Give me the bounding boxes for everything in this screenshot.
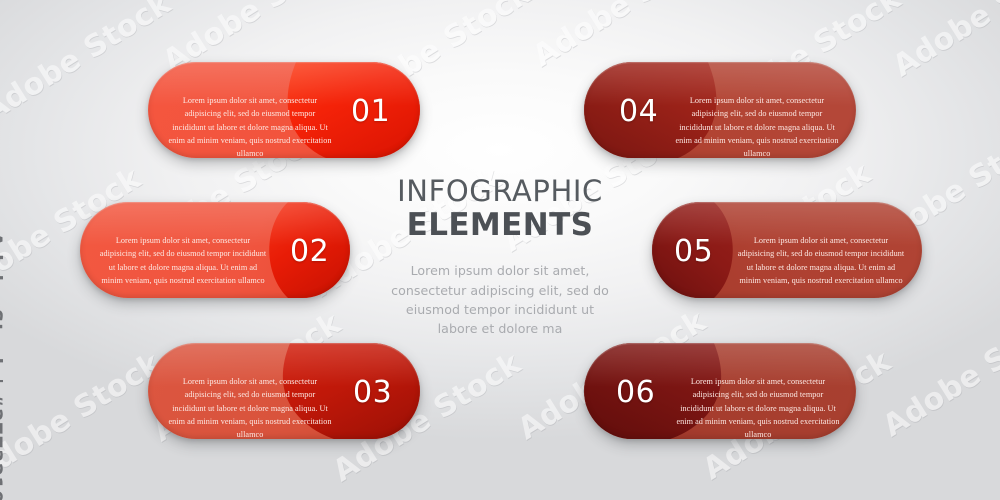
pill-06-body-text: Lorem ipsum dolor sit amet, consectetur … xyxy=(676,375,840,439)
watermark-word: Adobe Stock xyxy=(0,346,167,489)
pill-05[interactable]: 05 Lorem ipsum dolor sit amet, consectet… xyxy=(652,202,922,298)
pill-03-number: 03 xyxy=(353,375,392,410)
pill-02-number: 02 xyxy=(290,234,329,269)
pill-04-body-text: Lorem ipsum dolor sit amet, consectetur … xyxy=(674,94,840,158)
watermark-word: Adobe Stock xyxy=(887,0,1000,84)
pill-06-number: 06 xyxy=(616,375,655,410)
pill-02-body-text: Lorem ipsum dolor sit amet, consectetur … xyxy=(98,234,268,287)
pill-01-body-text: Lorem ipsum dolor sit amet, consectetur … xyxy=(168,94,332,158)
page-title-line1: INFOGRAPHIC xyxy=(388,175,612,207)
page-subtitle: Lorem ipsum dolor sit amet, consectetur … xyxy=(388,261,612,338)
pill-05-body-text: Lorem ipsum dolor sit amet, consectetur … xyxy=(736,234,906,287)
pill-02[interactable]: Lorem ipsum dolor sit amet, consectetur … xyxy=(80,202,350,298)
page-title-line2: ELEMENTS xyxy=(388,208,612,244)
pill-03-body-text: Lorem ipsum dolor sit amet, consectetur … xyxy=(168,375,332,439)
pill-04-number: 04 xyxy=(619,94,658,129)
pill-04[interactable]: 04 Lorem ipsum dolor sit amet, consectet… xyxy=(584,62,856,158)
watermark-word: Adobe Stock xyxy=(877,301,1000,444)
watermark-sidebar-label: Adobe Stock | #277321020 xyxy=(0,232,6,500)
pill-05-number: 05 xyxy=(674,234,713,269)
pill-06[interactable]: 06 Lorem ipsum dolor sit amet, consectet… xyxy=(584,343,856,439)
infographic-canvas: Adobe Stock Adobe Stock Adobe Stock Adob… xyxy=(0,0,1000,500)
center-text-block: INFOGRAPHIC ELEMENTS Lorem ipsum dolor s… xyxy=(388,175,612,338)
pill-01-number: 01 xyxy=(351,94,390,129)
pill-01[interactable]: Lorem ipsum dolor sit amet, consectetur … xyxy=(148,62,420,158)
pill-03[interactable]: Lorem ipsum dolor sit amet, consectetur … xyxy=(148,343,420,439)
